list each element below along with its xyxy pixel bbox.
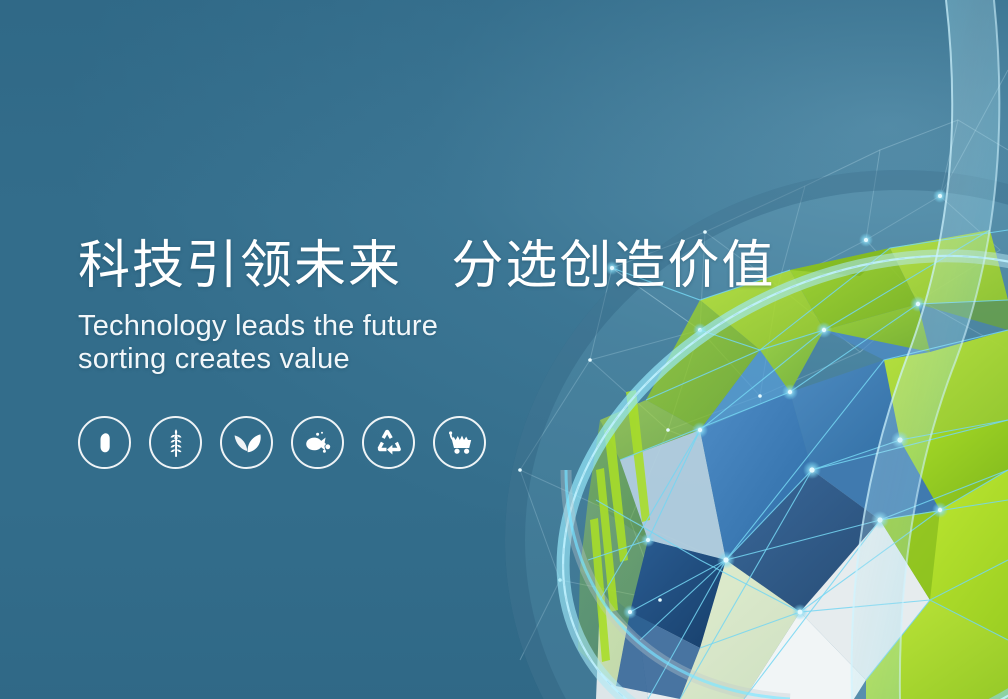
headline-chinese: 科技引领未来 分选创造价值 bbox=[78, 236, 778, 296]
industry-icon-row bbox=[78, 416, 486, 469]
leaves-icon bbox=[232, 430, 262, 456]
hero-banner: 科技引领未来 分选创造价值 Technology leads the futur… bbox=[0, 0, 1008, 699]
subheadline-line-2: sorting creates value bbox=[78, 343, 778, 376]
icon-badge-wheat[interactable] bbox=[149, 416, 202, 469]
subheadline-line-1: Technology leads the future bbox=[78, 310, 778, 343]
mining-cart-icon bbox=[445, 430, 475, 456]
fish-icon bbox=[303, 431, 333, 455]
subheadline-english: Technology leads the future sorting crea… bbox=[78, 310, 778, 376]
recycle-icon bbox=[375, 429, 403, 457]
icon-badge-mining-cart[interactable] bbox=[433, 416, 486, 469]
rice-grain-icon bbox=[92, 430, 118, 456]
icon-badge-fish[interactable] bbox=[291, 416, 344, 469]
icon-badge-recycle[interactable] bbox=[362, 416, 415, 469]
icon-badge-rice-grain[interactable] bbox=[78, 416, 131, 469]
wheat-icon bbox=[162, 428, 190, 458]
icon-badge-leaves[interactable] bbox=[220, 416, 273, 469]
copy-block: 科技引领未来 分选创造价值 Technology leads the futur… bbox=[78, 236, 778, 376]
